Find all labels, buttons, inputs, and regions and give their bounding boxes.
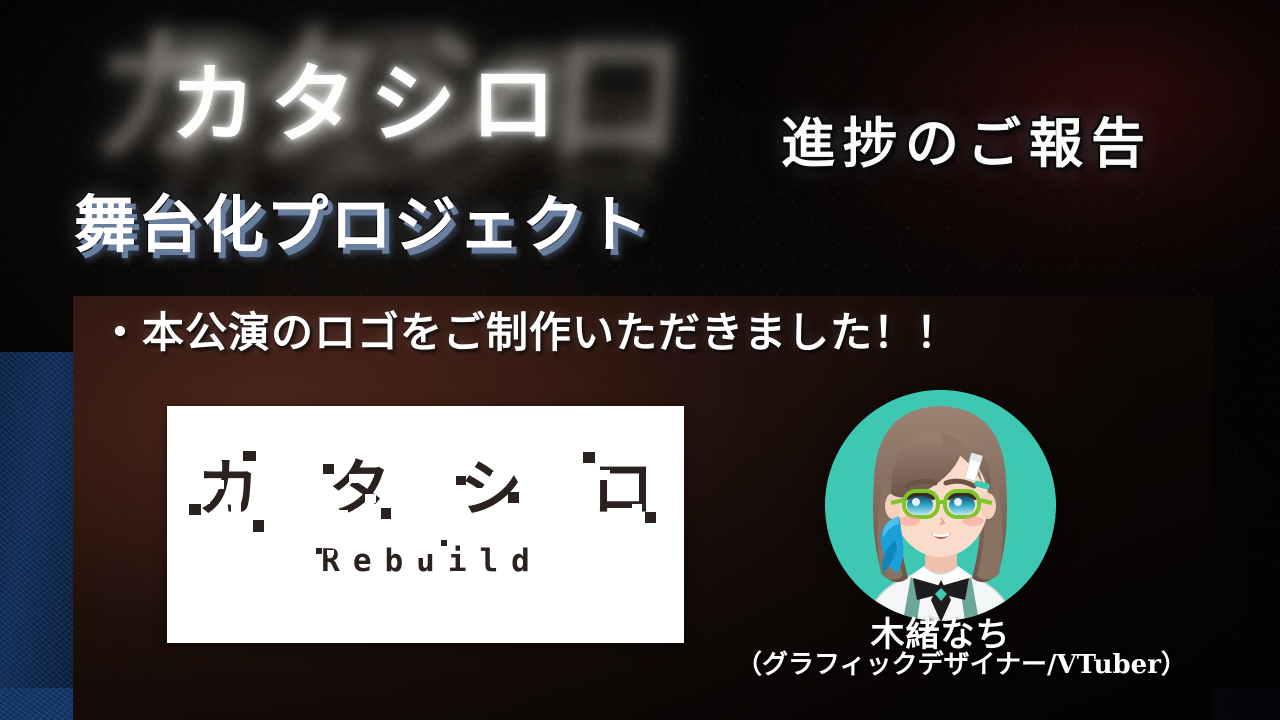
logo-glyph-ro: ロ (592, 458, 678, 520)
credit-name: 木緒なち (825, 618, 1056, 652)
logo-glyph-ta: タ (329, 458, 415, 520)
avatar (825, 390, 1056, 621)
logo-card: カ タ シ (167, 406, 684, 643)
report-heading: 進捗のご報告 (781, 116, 1153, 170)
logo-glyph-shi: シ (460, 458, 546, 520)
logo-glyph-ka: カ (197, 458, 283, 520)
logo-subtitle-wordmark: Rebuild (167, 546, 684, 577)
hero-title: カタシロ (170, 62, 570, 148)
bullet-announcement: ・本公演のロゴをご制作いただきました！！ (99, 312, 959, 354)
blue-left-band (0, 352, 78, 720)
logo-kana-wordmark: カ タ シ (167, 458, 684, 520)
hero-subtitle: 舞台化プロジェクト (74, 194, 650, 256)
slide-canvas: カタシロ カタシロ カタシロ 舞台化プロジェクト 進捗のご報告 ・本公演のロゴを… (0, 0, 1280, 720)
credit-role: （グラフィックデザイナー/VTuber） (736, 652, 1146, 678)
